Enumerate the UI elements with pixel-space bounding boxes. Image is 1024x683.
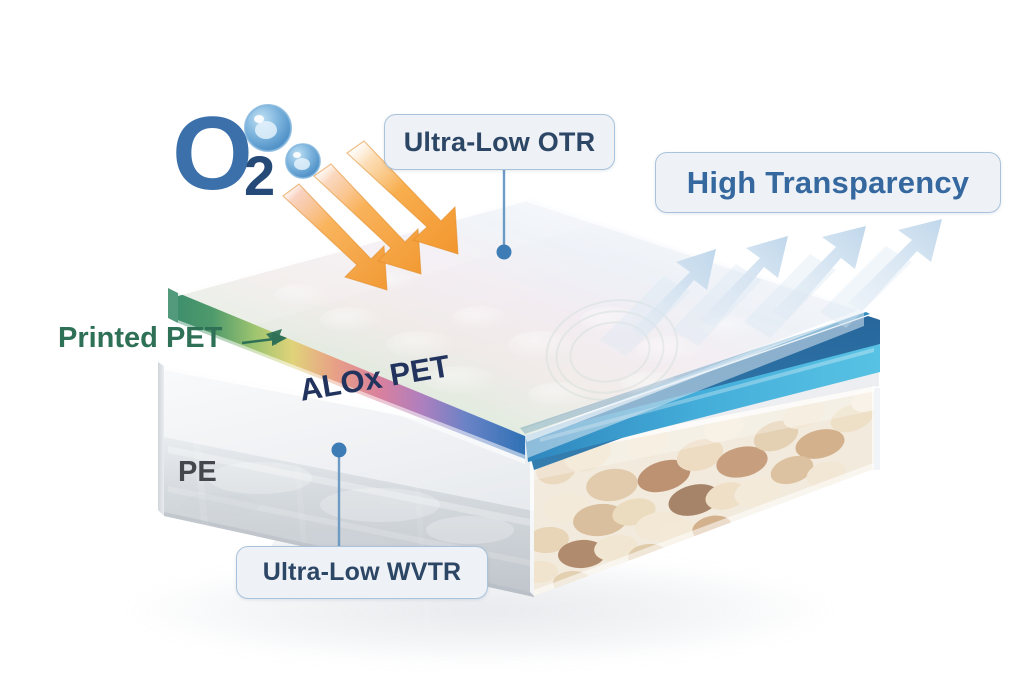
otr-leader-dot xyxy=(497,245,512,260)
diagram-canvas: O 2 Ultra-Low OTR High Transparency Ultr… xyxy=(0,0,1024,683)
layer-label-pe: PE xyxy=(178,456,217,489)
layer-label-printed-pet: Printed PET xyxy=(58,322,222,355)
wvtr-leader-dot xyxy=(332,443,347,458)
callout-ultra-low-otr[interactable]: Ultra-Low OTR xyxy=(384,114,615,170)
o2-subscript: 2 xyxy=(244,148,275,204)
callout-high-transparency[interactable]: High Transparency xyxy=(655,152,1001,213)
oxygen-molecule-label: O 2 xyxy=(172,104,302,212)
o2-symbol: O xyxy=(172,104,253,204)
callout-ultra-low-wvtr[interactable]: Ultra-Low WVTR xyxy=(236,546,488,599)
